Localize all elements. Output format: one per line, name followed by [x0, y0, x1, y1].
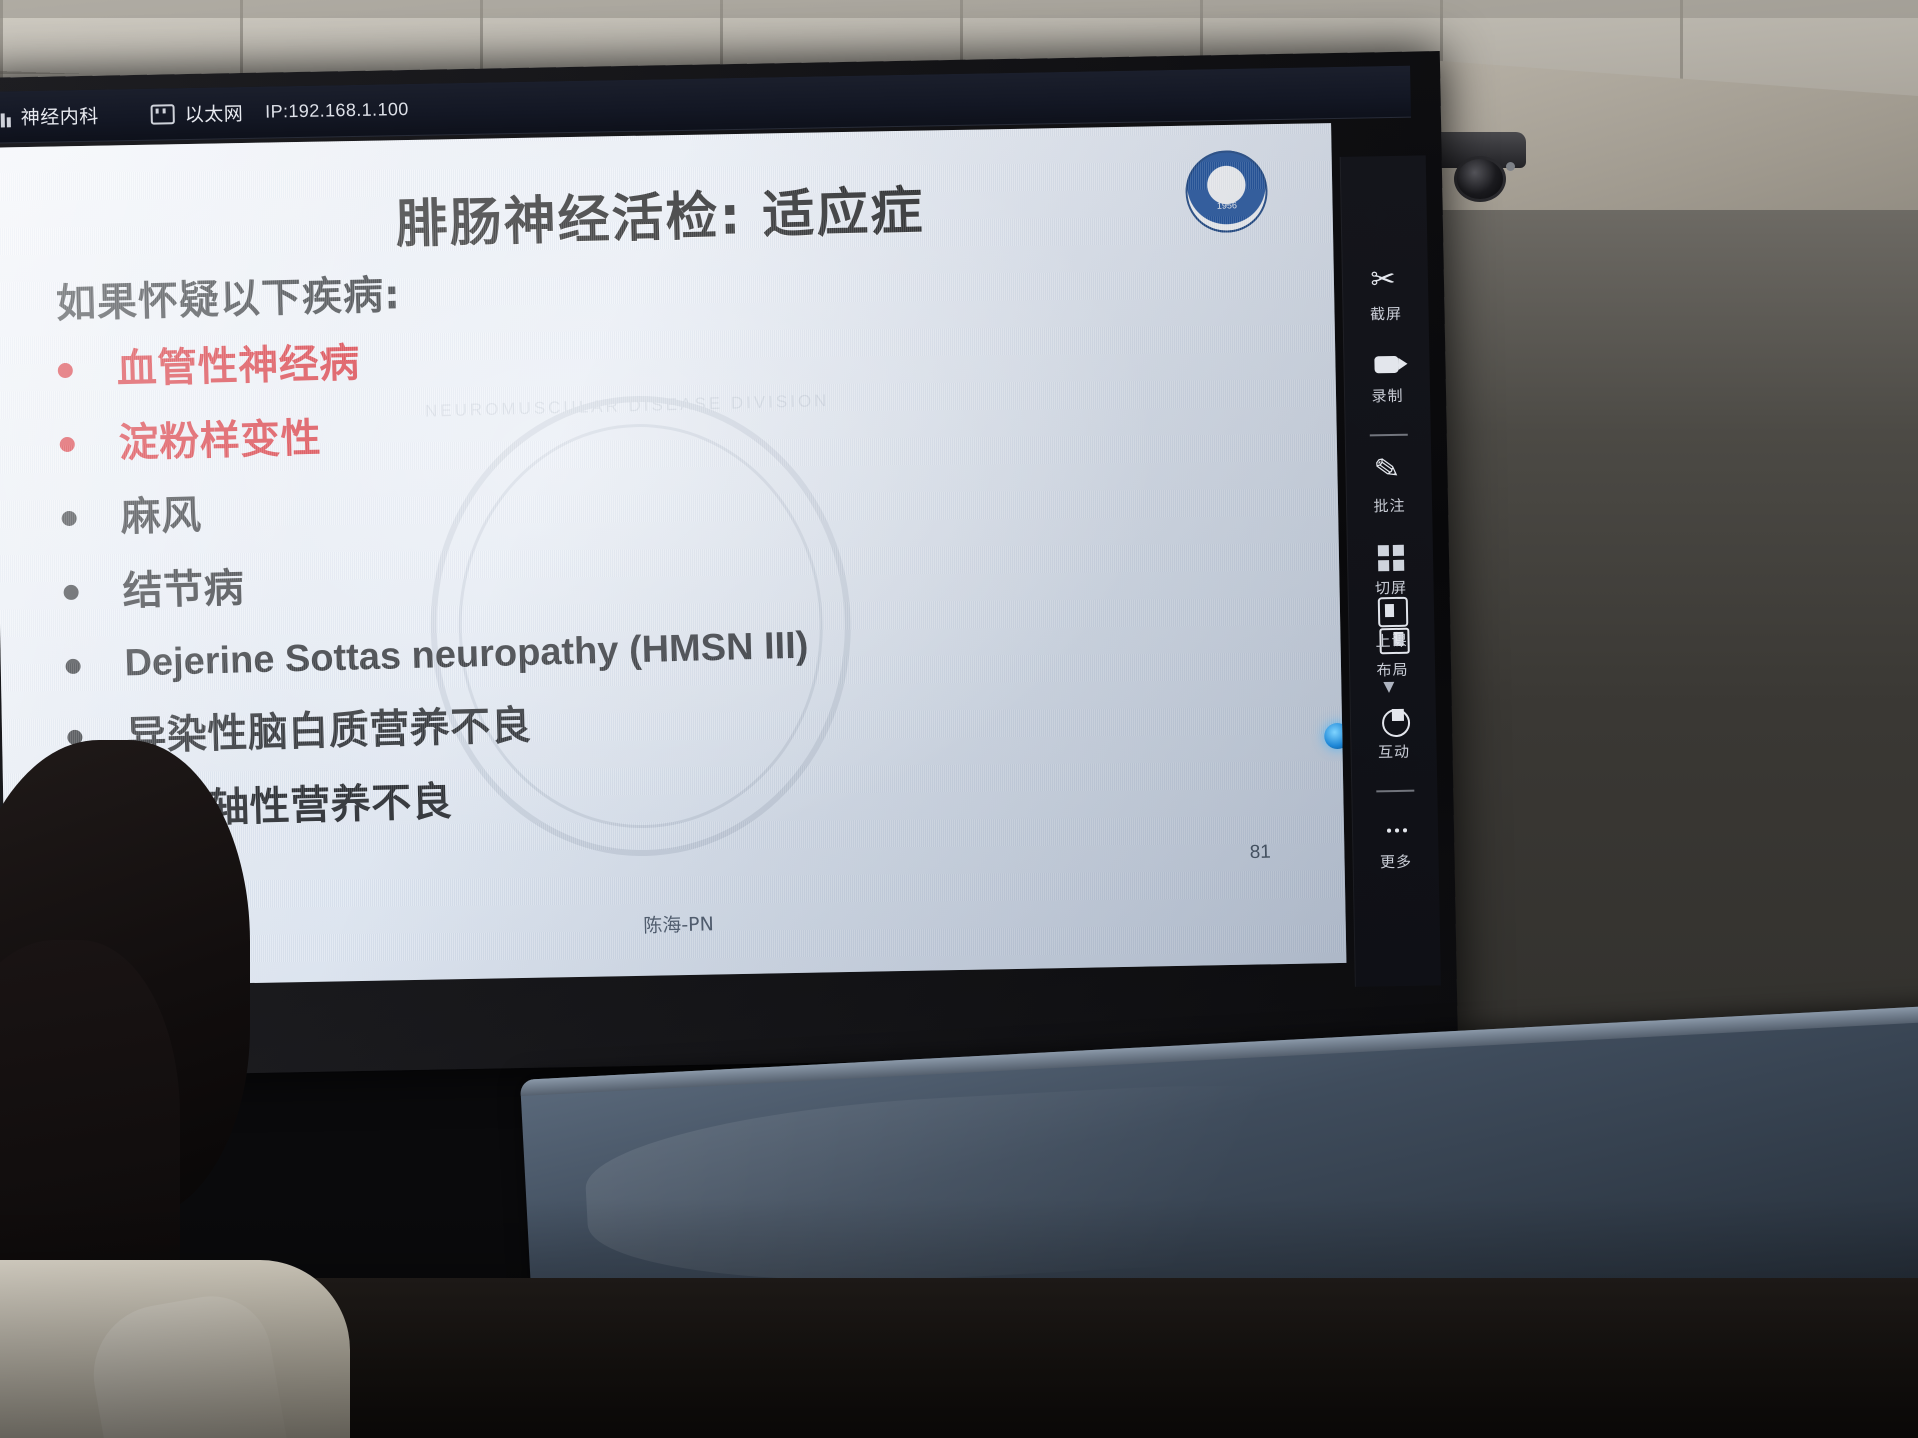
bullet-dot-icon: [65, 659, 80, 674]
tool-label: 批注: [1373, 495, 1405, 517]
department-label: 神经内科: [20, 102, 98, 130]
tool-rail-bottom: 上课: [1348, 594, 1436, 713]
tool-record[interactable]: 录制: [1344, 349, 1430, 407]
list-item: 淀粉样变性: [59, 386, 1180, 475]
class-icon: [1376, 595, 1407, 626]
security-camera-icon: [1434, 132, 1526, 194]
video-camera-icon: [1372, 350, 1403, 381]
list-item: 结节病: [63, 534, 1184, 623]
status-network: 以太网: [150, 99, 243, 128]
bullet-dot-icon: [63, 585, 78, 600]
photo-scene: 神经内科 以太网 IP:192.168.1.100 NEUROMUSCULAR …: [0, 0, 1918, 1438]
scissors-icon: [1370, 268, 1401, 299]
more-dots-icon: [1380, 816, 1411, 847]
list-item: 血管性神经病: [57, 312, 1178, 401]
tool-label: 截屏: [1370, 303, 1402, 325]
ceiling-edge-strip: [0, 0, 1918, 18]
list-item: 麻风: [61, 460, 1182, 549]
tool-more[interactable]: 更多: [1353, 815, 1439, 873]
tool-rail: 截屏 录制 批注 切屏 布局 互动: [1340, 155, 1441, 986]
building-icon: [0, 107, 11, 127]
slide-subtitle: 如果怀疑以下疾病:: [55, 262, 401, 329]
bullet-text: 麻风: [120, 486, 203, 548]
ip-address-label: IP:192.168.1.100: [265, 99, 409, 123]
bullet-text: 结节病: [122, 558, 245, 621]
table-reflection: [582, 1070, 1490, 1297]
bullet-text: 淀粉样变性: [118, 408, 322, 473]
bullet-dot-icon: [58, 363, 73, 378]
status-department: 神经内科: [0, 102, 99, 131]
bullet-text: 血管性神经病: [116, 333, 360, 399]
bullet-text: Dejerine Sottas neuropathy (HMSN III): [124, 618, 809, 693]
tool-switch-screen[interactable]: 切屏: [1348, 541, 1434, 599]
pen-icon: [1374, 460, 1405, 491]
slide-page-number: 81: [1249, 842, 1271, 865]
tool-interaction[interactable]: 互动: [1351, 705, 1437, 763]
network-label: 以太网: [184, 99, 243, 127]
status-spacer: [99, 114, 151, 115]
class-button-label: 上课: [1375, 630, 1407, 652]
rail-divider: [1376, 790, 1414, 793]
list-item: Dejerine Sottas neuropathy (HMSN III): [65, 608, 1186, 694]
slide-title: 腓肠神经活检: 适应症: [0, 158, 1331, 268]
bullet-dot-icon: [60, 437, 75, 452]
start-class-button[interactable]: 上课: [1348, 594, 1435, 652]
tool-annotate[interactable]: 批注: [1346, 459, 1432, 517]
tool-label: 互动: [1378, 741, 1410, 763]
tool-label: 录制: [1371, 385, 1403, 407]
chevron-down-icon[interactable]: [1377, 677, 1408, 708]
rail-divider: [1369, 434, 1407, 437]
grid-icon: [1375, 542, 1406, 573]
audience-person: [0, 740, 390, 1438]
bullet-dot-icon: [62, 511, 77, 526]
tool-screenshot[interactable]: 截屏: [1343, 267, 1429, 325]
tool-label: 更多: [1380, 851, 1412, 873]
network-icon: [151, 104, 175, 124]
